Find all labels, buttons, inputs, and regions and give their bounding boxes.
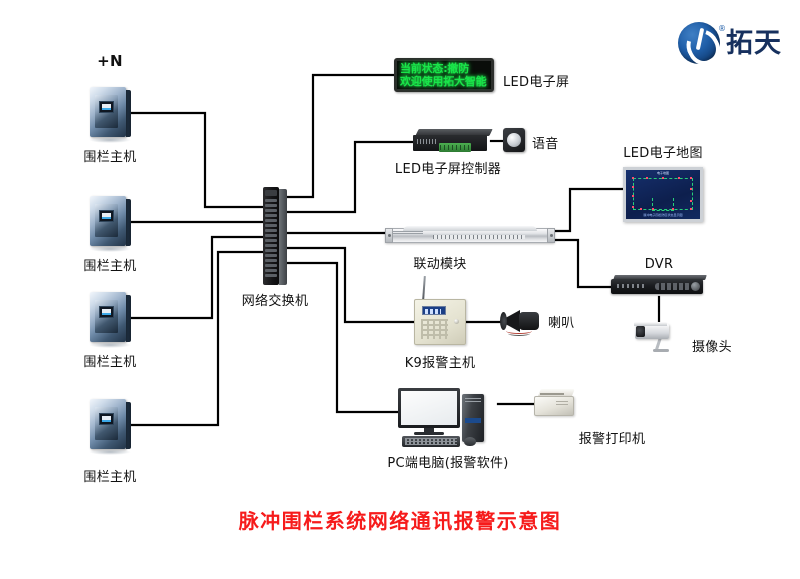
switch-chassis-side (279, 189, 287, 285)
map-inner-notch (652, 198, 674, 211)
monitor-stand-base (414, 432, 444, 435)
fence-host-1-label: 围栏主机 (83, 146, 136, 165)
printer-paper-slot (540, 393, 564, 395)
horn-label: 喇叭 (548, 312, 575, 331)
controller-terminal-block (439, 143, 471, 152)
device-camera[interactable] (633, 322, 685, 356)
camera-bracket-base (653, 349, 669, 352)
led-map-label: LED电子地图 (623, 142, 703, 161)
device-led-controller[interactable] (413, 129, 491, 155)
host-side (126, 402, 131, 449)
linkage-terminal-strip (433, 235, 525, 239)
host-display-icon (99, 101, 114, 113)
horn-wire-black (508, 331, 530, 336)
device-horn-speaker[interactable] (500, 306, 544, 336)
device-voice-module[interactable] (503, 128, 525, 152)
k9-keypad (421, 319, 448, 339)
camera-lens-icon (636, 326, 645, 337)
linkage-module-label: 联动模块 (413, 253, 466, 272)
device-pc-workstation[interactable] (398, 388, 498, 448)
fence-host-3-label: 围栏主机 (83, 351, 136, 370)
camera-label: 摄像头 (692, 336, 732, 355)
mouse-icon (464, 437, 476, 446)
led-display-line1: 当前状态:撤防 (400, 62, 488, 75)
device-alarm-printer[interactable] (534, 389, 578, 421)
led-display-line2: 欢迎使用拓大智能 (400, 75, 488, 88)
tower-bays (465, 398, 481, 404)
linkage-top (403, 226, 537, 231)
k9-lcd-display (422, 306, 446, 315)
led-map-screen-title: 电子地图 (657, 171, 669, 175)
brand-name: 拓天 (726, 30, 782, 57)
switch-label: 网络交换机 (242, 290, 309, 309)
device-fence-host-2[interactable] (88, 196, 132, 248)
fence-host-4-label: 围栏主机 (83, 466, 136, 485)
pc-tower (462, 394, 484, 442)
speaker-icon (507, 133, 521, 147)
dvr-markings (617, 284, 647, 288)
switch-top-module (265, 190, 277, 196)
device-led-display[interactable]: 当前状态:撤防 欢迎使用拓大智能 (394, 58, 494, 92)
tower-panel-led (465, 418, 481, 423)
host-display-icon (99, 210, 114, 222)
pc-monitor (398, 388, 460, 428)
brand-logo: ® 拓天 (678, 22, 782, 64)
host-display-icon (99, 306, 114, 318)
k9-alarm-label: K9报警主机 (405, 352, 476, 371)
monitor-screen (401, 391, 457, 425)
printer-body (534, 396, 574, 416)
keyboard-icon (402, 436, 460, 447)
host-shadow (89, 246, 131, 252)
device-dvr[interactable] (611, 275, 707, 297)
fence-host-2-label: 围栏主机 (83, 255, 136, 274)
led-display-label: LED电子屏 (503, 71, 569, 90)
tuotian-logo-icon: ® (678, 22, 720, 64)
device-fence-host-1[interactable] (88, 87, 132, 139)
led-map-screen-caption: 脉冲电子围栏防区状态显示图 (626, 213, 700, 217)
host-shadow (89, 137, 131, 143)
k9-status-led-icon (454, 319, 459, 324)
linkage-rack-ear-left (385, 228, 393, 243)
host-display-icon (99, 413, 114, 425)
pc-label: PC端电脑(报警软件) (387, 452, 508, 471)
led-controller-label: LED电子屏控制器 (395, 158, 501, 177)
device-network-switch[interactable] (263, 187, 287, 285)
led-map-screen: 电子地图 脉冲电子围栏防区状态显示图 (626, 170, 700, 219)
plus-n-label: +N (97, 52, 123, 70)
device-linkage-module[interactable] (385, 226, 555, 246)
device-fence-host-3[interactable] (88, 292, 132, 344)
host-side (126, 199, 131, 246)
host-side (126, 90, 131, 137)
dvr-buttons (655, 283, 691, 290)
voice-label: 语音 (532, 133, 559, 152)
registered-mark: ® (718, 24, 726, 33)
dvr-label: DVR (645, 257, 674, 272)
device-led-electronic-map[interactable]: 电子地图 脉冲电子围栏防区状态显示图 (623, 167, 703, 222)
host-shadow (89, 342, 131, 348)
diagram-title: 脉冲围栏系统网络通讯报警示意图 (239, 505, 562, 534)
linkage-print (393, 231, 423, 235)
switch-ports (265, 199, 277, 279)
device-k9-alarm-host[interactable] (414, 299, 466, 345)
printer-vents (556, 401, 568, 406)
diagram-canvas: ® 拓天 +N 围栏主机 围栏主机 围栏主机 围栏主机 (0, 0, 800, 579)
controller-pins (417, 139, 437, 144)
linkage-rack-ear-right (547, 228, 555, 243)
dvr-jog-dial-icon (691, 282, 700, 291)
host-side (126, 295, 131, 342)
printer-label: 报警打印机 (579, 428, 646, 447)
device-fence-host-4[interactable] (88, 399, 132, 451)
host-shadow (89, 449, 131, 455)
